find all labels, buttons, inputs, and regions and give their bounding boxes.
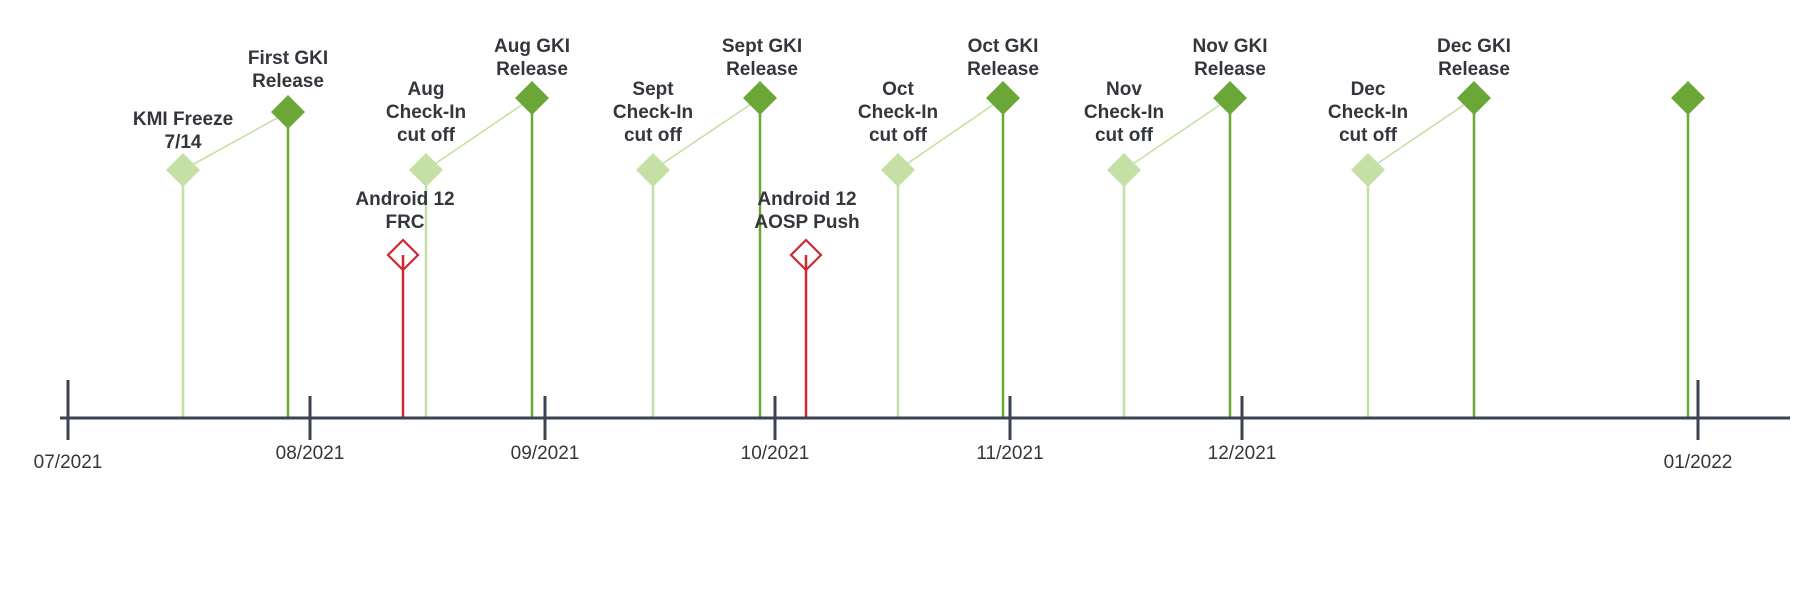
checkin-diamond-2[interactable] [409, 153, 443, 187]
checkin-diamond-12[interactable] [1351, 153, 1385, 187]
axis-label-1: 08/2021 [276, 443, 345, 465]
milestone-label-5: Sept Check-In cut off [613, 78, 693, 147]
axis-label-0: 07/2021 [34, 452, 103, 474]
milestone-label-1: First GKI Release [248, 47, 328, 93]
release-diamond-1[interactable] [271, 95, 305, 129]
release-diamond-9[interactable] [986, 81, 1020, 115]
checkin-diamond-0[interactable] [166, 153, 200, 187]
milestone-label-13: Dec GKI Release [1437, 35, 1511, 81]
milestone-label-7: Android 12 AOSP Push [754, 188, 859, 234]
milestone-label-2: Aug Check-In cut off [386, 78, 466, 147]
axis-label-2: 09/2021 [511, 443, 580, 465]
milestone-label-3: Aug GKI Release [494, 35, 570, 81]
milestone-label-0: KMI Freeze 7/14 [133, 108, 233, 154]
milestone-label-4: Android 12 FRC [355, 188, 454, 234]
milestone-label-9: Oct GKI Release [967, 35, 1039, 81]
milestone-label-12: Dec Check-In cut off [1328, 78, 1408, 147]
release-diamond-11[interactable] [1213, 81, 1247, 115]
timeline-chart: KMI Freeze 7/14First GKI ReleaseAug Chec… [0, 0, 1800, 602]
release-diamond-3[interactable] [515, 81, 549, 115]
checkin-diamond-5[interactable] [636, 153, 670, 187]
milestone-label-6: Sept GKI Release [722, 35, 802, 81]
release-diamond-13[interactable] [1457, 81, 1491, 115]
axis-label-4: 11/2021 [976, 443, 1043, 465]
milestone-label-10: Nov Check-In cut off [1084, 78, 1164, 147]
axis-label-5: 12/2021 [1208, 443, 1277, 465]
milestone-label-8: Oct Check-In cut off [858, 78, 938, 147]
release-diamond-6[interactable] [743, 81, 777, 115]
checkin-diamond-10[interactable] [1107, 153, 1141, 187]
checkin-diamond-8[interactable] [881, 153, 915, 187]
axis-label-6: 01/2022 [1664, 452, 1733, 474]
release-diamond-14[interactable] [1671, 81, 1705, 115]
axis-label-3: 10/2021 [741, 443, 810, 465]
milestone-label-11: Nov GKI Release [1193, 35, 1268, 81]
